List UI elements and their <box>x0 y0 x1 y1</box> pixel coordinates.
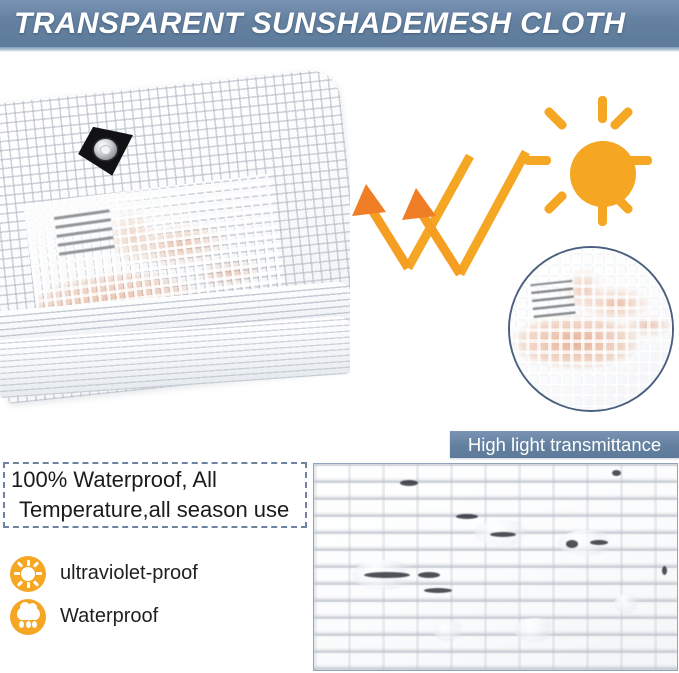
sun-ray <box>598 199 607 226</box>
feature-line-1: 100% Waterproof, All <box>11 465 299 495</box>
metal-grommet <box>94 139 117 160</box>
water-droplet <box>590 540 608 545</box>
transmittance-tag: High light transmittance <box>450 431 679 458</box>
sun-ray <box>598 96 607 123</box>
feature-callout-box: 100% Waterproof, All Temperature,all sea… <box>3 462 307 528</box>
benefit-label-waterproof: Waterproof <box>60 605 158 628</box>
water-droplet <box>490 532 516 537</box>
sun-icon-ray <box>27 560 30 566</box>
sun-icon-ray <box>33 580 39 586</box>
water-droplet <box>364 572 410 578</box>
header-banner: TRANSPARENT SUNSHADEMESH CLOTH <box>0 0 679 48</box>
sun-ray <box>625 156 652 165</box>
raindrop <box>19 621 24 628</box>
sun-icon-ray <box>17 561 23 567</box>
water-droplet <box>566 540 578 548</box>
water-droplet <box>400 480 418 486</box>
feature-line-2: Temperature,all season use <box>11 495 299 525</box>
droplet-sheen <box>614 594 640 614</box>
water-droplet <box>424 588 452 593</box>
closeup-label-ghost <box>530 280 575 318</box>
sun-ray <box>609 106 634 131</box>
cloud-shape <box>17 607 40 620</box>
sun-core <box>570 141 636 207</box>
sun-icon-ray <box>27 582 30 588</box>
water-droplet <box>612 470 621 476</box>
benefit-label-uv: ultraviolet-proof <box>60 562 198 585</box>
benefit-row-uv: ultraviolet-proof <box>10 552 310 595</box>
sun-icon-core <box>21 567 35 581</box>
raindrop <box>26 621 31 628</box>
arrowhead-1 <box>352 184 386 216</box>
water-droplet <box>418 572 440 578</box>
main-product-photo <box>0 60 350 435</box>
water-beading-photo <box>313 463 678 671</box>
sun-icon-ray <box>17 580 23 586</box>
mesh-closeup-circle <box>508 246 674 412</box>
printed-label-ghost <box>53 204 115 255</box>
page-title: TRANSPARENT SUNSHADEMESH CLOTH <box>14 2 674 46</box>
transmittance-label: High light transmittance <box>468 434 661 456</box>
sun-icon-ray <box>36 572 42 575</box>
benefit-row-waterproof: Waterproof <box>10 595 310 638</box>
droplet-sheen <box>434 620 464 642</box>
arrowhead-2 <box>402 188 436 220</box>
droplet-sheen <box>514 618 558 642</box>
rain-cloud-icon <box>10 599 46 635</box>
raindrop <box>32 621 37 628</box>
light-ray-reflected-2 <box>422 214 460 274</box>
sun-icon-ray <box>14 572 20 575</box>
product-marketing-image: TRANSPARENT SUNSHADEMESH CLOTH <box>0 0 679 673</box>
sun-icon-ray <box>33 561 39 567</box>
water-droplet <box>662 566 667 575</box>
water-droplet <box>456 514 478 519</box>
sun-ray <box>543 106 568 131</box>
benefit-list: ultraviolet-proof Waterproof <box>10 552 310 638</box>
closeup-weave-overlay <box>508 246 674 412</box>
sun-icon <box>10 556 46 592</box>
